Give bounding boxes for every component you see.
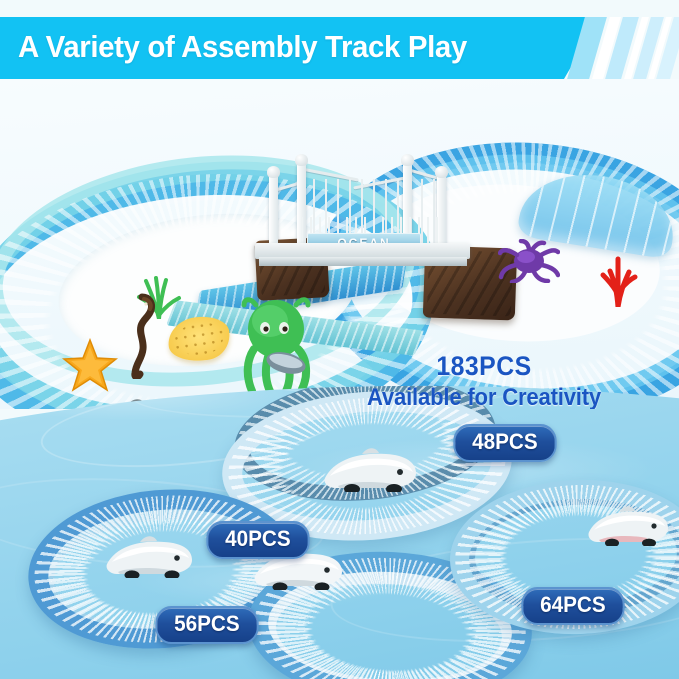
shark-car-white-64	[586, 506, 670, 546]
seahorse-figure	[126, 293, 156, 379]
badge-64pcs: 64PCS	[521, 587, 624, 625]
shark-car-white-40	[104, 536, 194, 578]
pieces-subtitle: Available for Creativity	[346, 383, 622, 409]
badge-48pcs: 48PCS	[453, 424, 556, 462]
product-image: A Variety of Assembly Track Play	[0, 0, 679, 679]
pieces-callout: 183PCS Available for Creativity	[334, 351, 634, 409]
purple-octopus-figure	[498, 239, 560, 283]
bridge-deck-lower	[259, 257, 467, 266]
pieces-count: 183PCS	[346, 351, 622, 381]
suspension-bridge: OCEAN	[255, 157, 470, 279]
shark-car-white-48	[322, 448, 418, 492]
ocean-track-scene: OCEAN	[0, 79, 679, 409]
bridge-tower	[269, 175, 278, 247]
badge-40pcs: 40PCS	[206, 521, 309, 559]
red-coral-figure	[598, 251, 638, 307]
badge-56pcs: 56PCS	[155, 606, 258, 644]
banner-title: A Variety of Assembly Track Play	[18, 17, 467, 79]
header-banner: A Variety of Assembly Track Play	[0, 17, 679, 79]
starfish-figure	[62, 338, 118, 392]
green-octopus-figure	[238, 295, 314, 403]
